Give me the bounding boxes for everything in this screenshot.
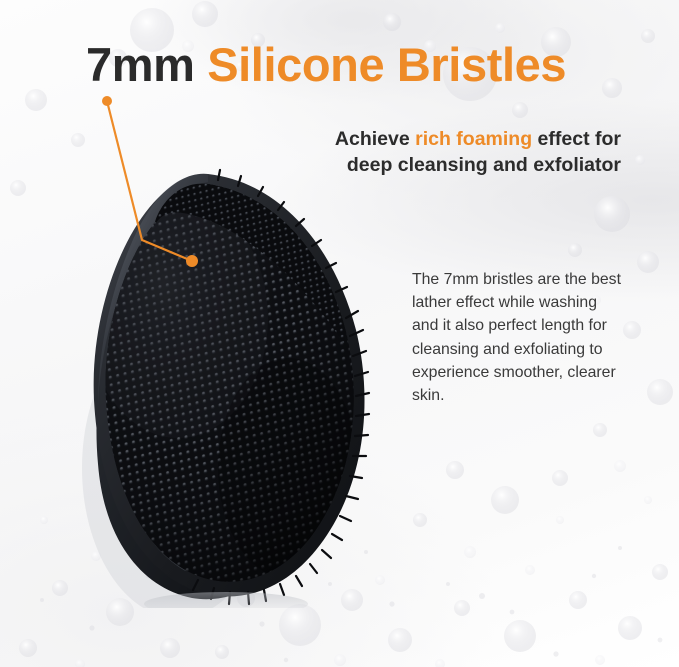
subheading-line1-suffix: effect for <box>532 128 621 150</box>
headline-subject: Silicone Bristles <box>195 38 567 91</box>
subheading-line1-prefix: Achieve <box>335 128 415 150</box>
product-image-silicone-brush <box>58 168 388 608</box>
subheading: Achieve rich foaming effect for deep cle… <box>281 126 621 178</box>
subheading-line1-accent: rich foaming <box>415 128 532 150</box>
body-paragraph: The 7mm bristles are the best lather eff… <box>412 268 627 407</box>
headline-measure: 7mm <box>86 38 195 91</box>
headline: 7mm Silicone Bristles <box>86 41 566 88</box>
subheading-line2: deep cleansing and exfoliator <box>347 154 621 176</box>
infographic-canvas: 7mm Silicone Bristles Achieve rich foami… <box>0 0 679 667</box>
